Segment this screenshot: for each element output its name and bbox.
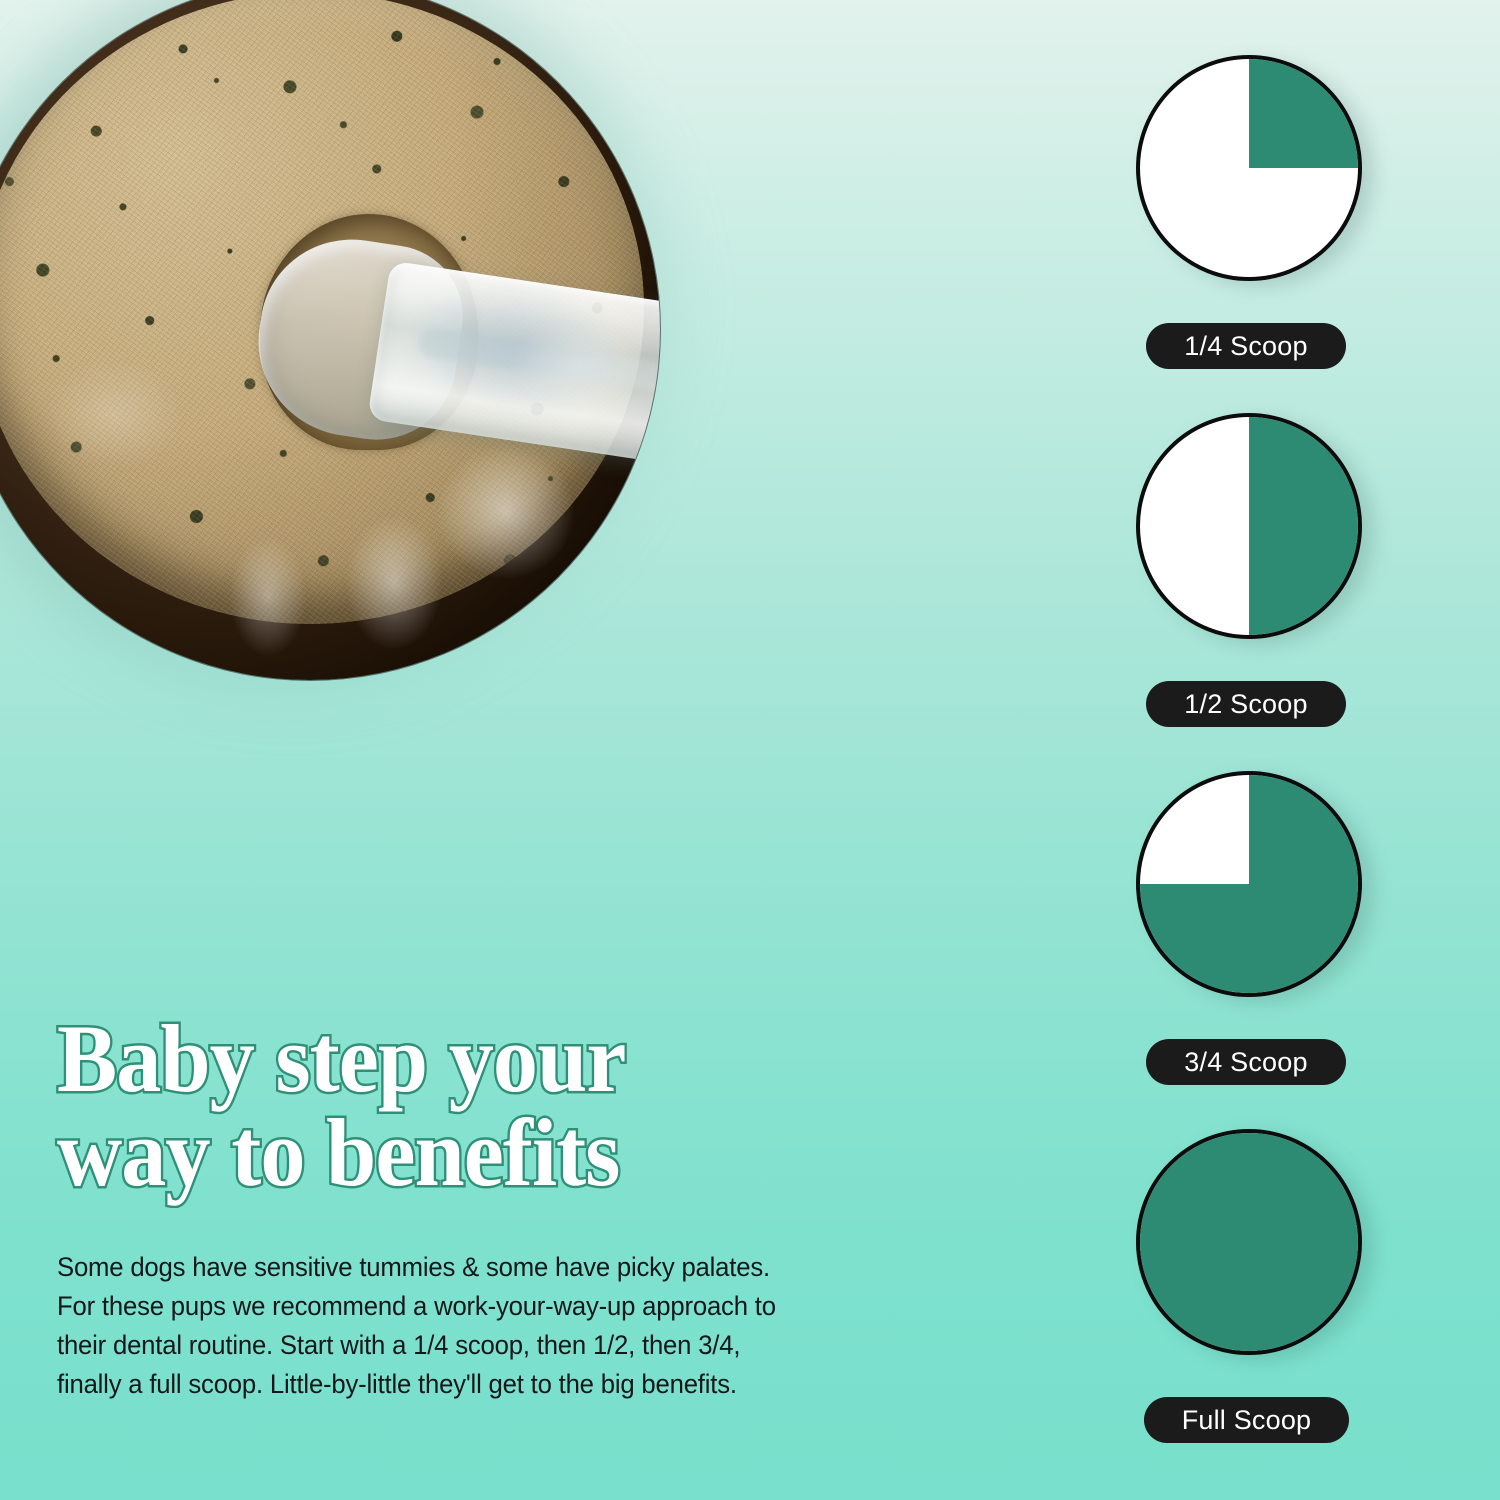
jar-drop-shadow xyxy=(0,0,690,710)
scoop-label-quarter: 1/4 Scoop xyxy=(1146,323,1346,369)
pie-full-icon xyxy=(1140,1133,1358,1351)
scoop-cup xyxy=(246,227,473,450)
dial-full xyxy=(1136,1129,1362,1355)
product-photo xyxy=(0,0,810,820)
scoop-label-quarter-text: 1/4 Scoop xyxy=(1184,331,1307,362)
pie-half-icon xyxy=(1140,417,1358,635)
pie-three-quarter-icon xyxy=(1140,775,1358,993)
scoop-blue-reflection xyxy=(402,273,627,423)
scoop-label-half-text: 1/2 Scoop xyxy=(1184,689,1307,720)
measuring-scoop xyxy=(244,221,660,520)
copy-block: Baby step your way to benefits Some dogs… xyxy=(57,1012,847,1404)
scoop-well-depression xyxy=(260,214,478,450)
body-paragraph: Some dogs have sensitive tummies & some … xyxy=(57,1248,796,1404)
powder-jar xyxy=(0,0,660,680)
scoop-label-full: Full Scoop xyxy=(1144,1397,1349,1443)
dial-quarter xyxy=(1136,55,1362,281)
dial-three-quarter xyxy=(1136,771,1362,997)
page-title: Baby step your way to benefits xyxy=(57,1012,800,1200)
dental-powder xyxy=(0,0,644,624)
scoop-label-half: 1/2 Scoop xyxy=(1146,681,1346,727)
powder-green-specks xyxy=(0,0,644,624)
scoop-label-three-quarter: 3/4 Scoop xyxy=(1146,1039,1346,1085)
scoop-label-full-text: Full Scoop xyxy=(1182,1405,1312,1436)
powder-grain-texture xyxy=(0,0,644,624)
scoop-dosage-column: 1/4 Scoop 1/2 Scoop xyxy=(1112,0,1412,1500)
scoop-handle xyxy=(367,261,660,490)
dial-half xyxy=(1136,413,1362,639)
scoop-label-three-quarter-text: 3/4 Scoop xyxy=(1184,1047,1307,1078)
promo-graphic-canvas: Baby step your way to benefits Some dogs… xyxy=(0,0,1500,1500)
pie-quarter-icon xyxy=(1140,59,1358,277)
